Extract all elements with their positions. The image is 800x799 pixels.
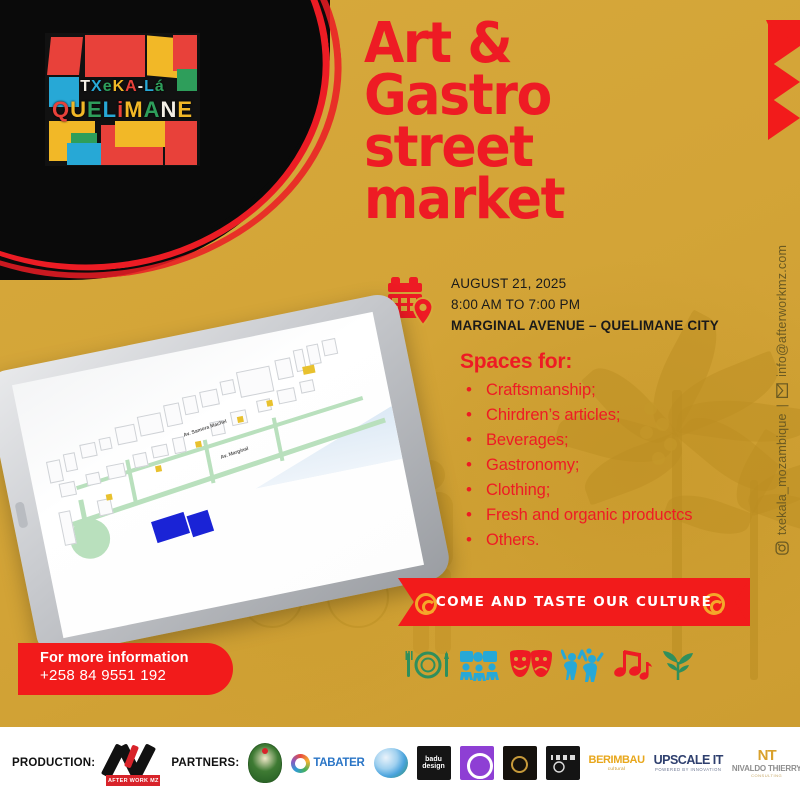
after-work-tagline: AFTER WORK MZ: [106, 775, 160, 786]
nivaldo-tagline: CONSULTING: [751, 774, 782, 778]
berimbau-tagline: cultural: [608, 767, 626, 772]
partner-logo-upscale-it: UPSCALE IT POWERED BY INNOVATION: [654, 754, 723, 773]
spaces-section: Spaces for: Craftsmanship; Chirdren’s ar…: [460, 350, 750, 554]
after-work-logo: AFTER WORK MZ: [104, 740, 162, 786]
partner-logo-berimbau: BERIMBAU cultural: [589, 755, 645, 772]
poster-canvas: TXeKA-Lá QUELiMANE Art & Gastro street m…: [0, 0, 800, 799]
upscale-wordmark: UPSCALE IT: [654, 754, 723, 767]
contact-title: For more information: [40, 650, 233, 666]
list-item: Others.: [460, 528, 750, 553]
partner-logo-nivaldo-thierry: NT NIVALDO THIERRY CONSULTING: [732, 748, 800, 778]
music-notes-icon: [612, 648, 654, 682]
theatre-masks-icon: [507, 649, 555, 681]
partner-logo-carrasco: [503, 746, 537, 780]
production-label: PRODUCTION:: [12, 757, 95, 769]
list-item: Clothing;: [460, 478, 750, 503]
partner-logo-film-studio: [546, 746, 580, 780]
partner-logo-purple-circle: [460, 746, 494, 780]
tabater-wordmark: TABATER: [313, 757, 364, 769]
email-address[interactable]: info@afterworkmz.com: [775, 245, 789, 377]
contact-banner: For more information +258 84 9551 192: [18, 643, 233, 695]
cutlery-plate-icon: [405, 649, 451, 681]
instagram-handle[interactable]: txekala_mozambique: [775, 413, 789, 535]
list-item: Beverages;: [460, 428, 750, 453]
page-title: Art & Gastro street market: [364, 18, 564, 226]
footer-bar: PRODUCTION: AFTER WORK MZ PARTNERS: TABA…: [0, 727, 800, 799]
ribbon-text: COME AND TASTE OUR CULTURE: [398, 578, 750, 626]
logo-line-2: QUELiMANE: [45, 97, 200, 123]
social-sidebar: txekala_mozambique | info@afterworkmz.co…: [766, 215, 798, 585]
social-separator: |: [775, 404, 789, 407]
partners-label: PARTNERS:: [171, 757, 239, 769]
category-icon-strip: [405, 640, 695, 690]
partner-logo-tabater: TABATER: [291, 754, 364, 773]
event-details: AUGUST 21, 2025 8:00 AM TO 7:00 PM MARGI…: [387, 272, 719, 337]
map-screen: Av. Samora Machel Av. Marginal: [12, 312, 424, 638]
spaces-list: Craftsmanship; Chirdren’s articles; Beve…: [460, 378, 750, 554]
art-people-icon: [458, 649, 500, 681]
map-street-label-2: Av. Marginal: [220, 446, 250, 461]
email-icon[interactable]: [776, 383, 788, 398]
logo-line-1: TXeKA-Lá: [45, 78, 200, 96]
event-time: 8:00 AM TO 7:00 PM: [451, 295, 719, 316]
event-date: AUGUST 21, 2025: [451, 274, 719, 295]
map-event-area-1: [151, 512, 190, 543]
tabater-mark-icon: [291, 754, 310, 773]
headline-line-4: market: [364, 174, 564, 226]
list-item: Fresh and organic productcs: [460, 503, 750, 528]
berimbau-wordmark: BERIMBAU: [589, 755, 645, 766]
plant-icon: [661, 649, 695, 681]
spaces-title: Spaces for:: [460, 350, 750, 374]
list-item: Gastronomy;: [460, 453, 750, 478]
contact-phone: +258 84 9551 192: [40, 667, 233, 684]
upscale-tagline: POWERED BY INNOVATION: [655, 768, 721, 772]
list-item: Craftsmanship;: [460, 378, 750, 403]
partner-logo-badu-design: badu design: [417, 746, 451, 780]
nivaldo-wordmark: NIVALDO THIERRY: [732, 765, 800, 773]
partner-logo-municipality: [248, 743, 282, 783]
partner-logo-globe: [374, 748, 408, 778]
nivaldo-monogram: NT: [758, 748, 776, 763]
tablet-device: Av. Samora Machel Av. Marginal: [0, 291, 453, 659]
list-item: Chirdren’s articles;: [460, 403, 750, 428]
event-location: MARGINAL AVENUE – QUELIMANE CITY: [451, 316, 719, 337]
dancers-icon: [561, 648, 605, 682]
tablet-side-button: [15, 501, 29, 528]
map-event-area-2: [187, 510, 215, 538]
txekala-logo: TXeKA-Lá QUELiMANE: [45, 33, 200, 166]
instagram-icon[interactable]: [775, 541, 789, 555]
